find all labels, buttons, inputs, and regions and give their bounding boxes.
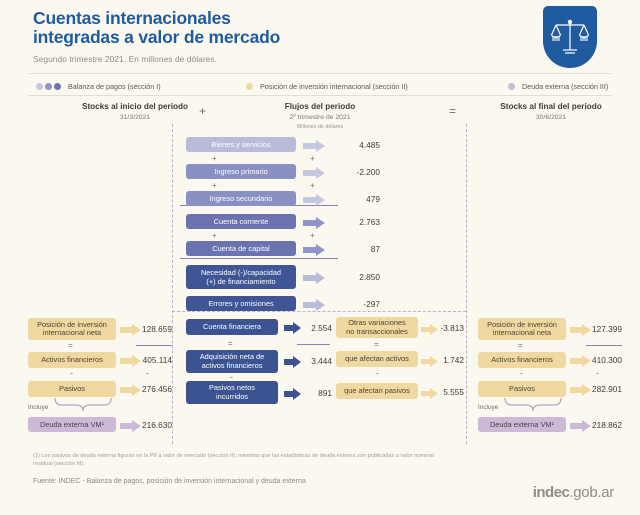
financial-box-adquisicion-neta[interactable]: Adquisición neta de activos financieros [186,350,278,373]
flow-value-5: 2.850 [340,272,380,282]
flow-box-cuenta-corriente[interactable]: Cuenta corriente [186,214,296,229]
source-line: Fuente: INDEC - Balanza de pagos, posici… [33,478,306,485]
flow-label-6: Errores y omisiones [208,299,273,309]
page-subtitle: Segundo trimestre 2021. En millones de d… [33,54,217,64]
flow-label-1: Ingreso primario [214,167,267,177]
flow-box-ingreso-primario[interactable]: Ingreso primario [186,164,296,179]
legend-bottom-rule [28,95,612,96]
legend-label-0: Balanza de pagos (sección I) [68,82,161,91]
legend-label-1: Posición de inversión internacional (sec… [260,82,408,91]
infographic-page: Cuentas internacionales integradas a val… [0,0,640,515]
financial-value-2: 891 [288,388,332,398]
legend-item-deuda-externa: Deuda externa (sección III) [508,82,608,91]
column-head-right-date: 30/6/2021 [466,114,636,121]
arrow-right-icon [303,298,326,316]
stock-start-debt-label: Deuda externa VM¹ [40,420,104,430]
rule-financial [297,344,330,345]
financial-label-0: Cuenta financiera [203,322,261,332]
financial-box-cuenta-financiera[interactable]: Cuenta financiera [186,319,278,335]
legend-item-balanza-de-pagos: Balanza de pagos (sección I) [36,82,161,91]
brand-domain: .gob.ar [569,484,614,501]
arrow-right-icon [303,243,326,261]
stock-end-box-pii-neta[interactable]: Posición de inversión internacional neta [478,318,566,340]
stock-end-op-minus: - [520,368,523,378]
stock-start-includes-label: Incluye [28,404,48,411]
legend-swatch-gold-icon [246,83,253,90]
brace-icon [54,398,112,416]
stock-start-label-2: Pasivos [59,384,85,394]
other-label-0: Otras variaciones no transaccionales [346,319,408,336]
stock-start-value-1: 405.114 [124,355,172,365]
other-op-minus: - [376,368,379,378]
column-head-center-period: 2º trimestre de 2021 [175,114,465,121]
stock-start-op-minus: - [70,368,73,378]
legend-top-rule [28,73,612,74]
column-head-right: Stocks al final del periodo 30/6/2021 [466,102,636,121]
rule-stock-start [136,345,172,346]
flow-value-4: 87 [340,244,380,254]
other-label-1: que afectan activos [345,354,409,364]
title-line-1: Cuentas internacionales [33,8,231,28]
header: Cuentas internacionales integradas a val… [0,0,640,75]
stock-end-label-1: Activos financieros [491,355,553,365]
flow-label-5: Necesidad (-)/capacidad (+) de financiam… [201,268,281,287]
flow-box-cuenta-capital[interactable]: Cuenta de capital [186,241,296,256]
flow-value-op-0: + [310,154,315,163]
brace-icon [504,398,562,416]
brand-name: indec [533,484,570,501]
divider-left-vertical [172,124,173,444]
flow-value-op-2: + [310,231,315,240]
stock-end-op-minus-value: - [596,368,599,378]
other-box-afectan-pasivos[interactable]: que afectan pasivos [336,383,418,399]
stock-start-box-deuda-externa[interactable]: Deuda externa VM¹ [28,417,116,432]
flow-box-errores-omisiones[interactable]: Errores y omisiones [186,296,296,311]
flow-label-0: Bienes y servicios [211,140,270,150]
legend-swatch-purple-icon [508,83,515,90]
stock-start-value-2: 276.456 [124,384,172,394]
stock-start-box-pii-neta[interactable]: Posición de inversión internacional neta [28,318,116,340]
financial-label-1: Adquisición neta de activos financieros [200,353,265,370]
other-label-2: que afectan pasivos [344,386,410,396]
stock-end-op-equals: = [518,341,523,350]
column-head-center-units: Millones de dólares [175,124,465,130]
stock-start-op-equals: = [68,341,73,350]
indec-brand-logo: indec.gob.ar [533,484,614,501]
financial-value-1: 3.444 [284,356,332,366]
arrow-right-icon [303,271,326,289]
flow-label-4: Cuenta de capital [212,244,270,254]
legend-swatch-group-icon [36,83,61,90]
financial-box-pasivos-netos[interactable]: Pasivos netos incurridos [186,381,278,404]
legend-label-2: Deuda externa (sección III) [522,82,608,91]
stock-start-box-activos[interactable]: Activos financieros [28,352,116,368]
stock-start-label-0: Posición de inversión internacional neta [37,321,107,338]
arrow-right-icon [303,193,326,211]
flow-label-2: Ingreso secundario [210,194,273,204]
stock-end-label-0: Posición de inversión internacional neta [487,321,557,338]
other-box-afectan-activos[interactable]: que afectan activos [336,351,418,367]
flow-box-ingreso-secundario[interactable]: Ingreso secundario [186,191,296,206]
flow-box-necesidad-capacidad[interactable]: Necesidad (-)/capacidad (+) de financiam… [186,265,296,289]
divider-right-vertical [466,124,467,444]
stock-end-label-2: Pasivos [509,384,535,394]
stock-end-debt-label: Deuda externa VM¹ [490,420,554,430]
flow-op-0: + [212,154,217,163]
stock-end-value-2: 282.901 [574,384,622,394]
page-title: Cuentas internacionales integradas a val… [33,9,463,47]
stock-end-debt-value: 218.862 [574,420,622,430]
flow-label-3: Cuenta corriente [214,217,269,227]
other-box-otras-variaciones[interactable]: Otras variaciones no transaccionales [336,317,418,338]
title-line-2: integradas a valor de mercado [33,27,280,47]
other-value-1: 1.742 [420,355,464,365]
flow-op-2: + [212,231,217,240]
stock-start-box-pasivos[interactable]: Pasivos [28,381,116,397]
other-op-equals: = [374,340,379,349]
financial-op-equals: = [228,339,233,348]
flow-value-3: 2.763 [340,217,380,227]
stock-end-value-0: 127.399 [574,324,622,334]
flow-value-0: 4.485 [340,140,380,150]
other-value-2: 5.555 [420,387,464,397]
flow-op-1: + [212,181,217,190]
stock-end-value-1: 410.300 [574,355,622,365]
financial-label-2: Pasivos netos incurridos [209,384,255,401]
stock-end-box-activos[interactable]: Activos financieros [478,352,566,368]
legend-item-posicion-inversion: Posición de inversión internacional (sec… [246,82,408,91]
stock-end-box-pasivos[interactable]: Pasivos [478,381,566,397]
stock-end-box-deuda-externa[interactable]: Deuda externa VM¹ [478,417,566,432]
flow-value-1: -2.200 [337,167,380,177]
stock-start-op-minus-value: - [146,368,149,378]
stock-start-debt-value: 216.630 [124,420,172,430]
financial-value-0: 2.554 [284,323,332,333]
other-value-0: -3.813 [416,323,464,333]
stock-end-includes-label: Incluye [478,404,498,411]
rule-stock-end [586,345,622,346]
flow-box-bienes-servicios[interactable]: Bienes y servicios [186,137,296,152]
flow-value-6: -297 [337,299,380,309]
column-head-center: Flujos del periodo 2º trimestre de 2021 … [175,102,465,130]
legend: Balanza de pagos (sección I) Posición de… [0,80,640,94]
stock-start-value-0: 128.659 [124,324,172,334]
footnote: (1) Los pasivos de deuda externa figuran… [33,452,443,468]
operator-equals-header: = [449,104,456,118]
flow-value-2: 479 [340,194,380,204]
flow-value-op-1: + [310,181,315,190]
column-head-center-title: Flujos del periodo [175,102,465,111]
stock-start-label-1: Activos financieros [41,355,103,365]
column-head-right-title: Stocks al final del periodo [466,102,636,111]
scales-of-justice-shield-icon [543,6,597,68]
